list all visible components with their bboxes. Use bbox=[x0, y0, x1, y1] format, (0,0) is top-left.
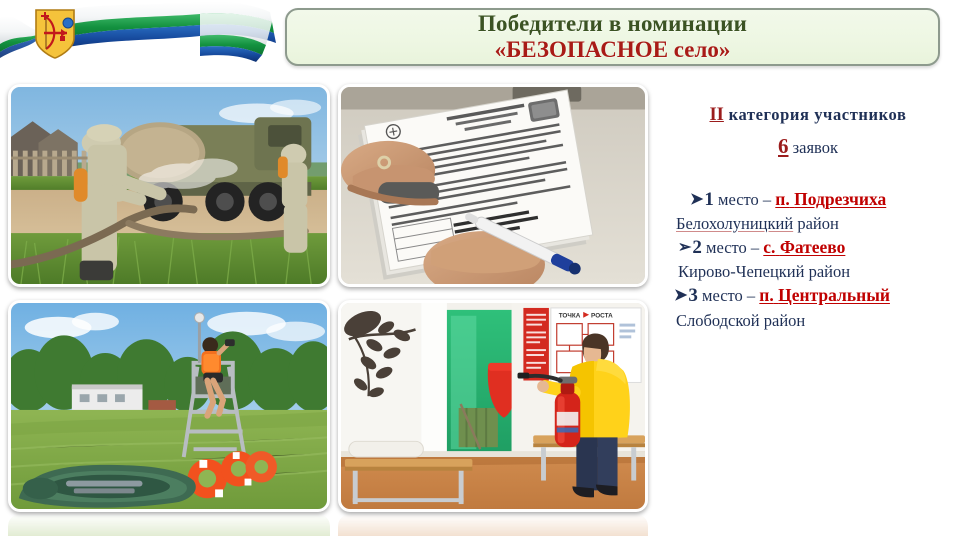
place-word-3: место bbox=[702, 286, 743, 305]
district-3: Слободской район bbox=[660, 310, 956, 331]
svg-text:ТОЧКА: ТОЧКА bbox=[559, 313, 581, 320]
photo-filling-document bbox=[338, 84, 648, 287]
settlement-name-2: Фатеево bbox=[780, 237, 846, 257]
reflection-gradient-right bbox=[338, 514, 648, 536]
fire-extinguisher-demo-illustration: ТОЧКА РОСТА bbox=[341, 303, 645, 509]
applications-word: заявок bbox=[793, 138, 838, 157]
applications-count: 6 bbox=[778, 134, 789, 158]
page-title-line-1: Победители в номинации bbox=[478, 12, 747, 36]
district-word-2: Кирово-Чепецкий район bbox=[678, 262, 850, 281]
arrow-bullet-icon-2: ➢ bbox=[678, 238, 691, 258]
winners-text-panel: II категория участников 6 заявок ➤1 мест… bbox=[660, 104, 956, 333]
arrow-bullet-icon-1: ➤ bbox=[690, 190, 703, 210]
place-number-2: 2 bbox=[692, 237, 702, 258]
settlement-prefix-1: п. bbox=[775, 189, 789, 209]
district-1: Белохолуницкий район bbox=[660, 213, 956, 234]
page-title-line-2: «БЕЗОПАСНОЕ село» bbox=[495, 37, 731, 62]
winner-row-2: ➢2 место – с. Фатеево bbox=[660, 236, 956, 260]
slide-title-banner: Победители в номинации «БЕЗОПАСНОЕ село» bbox=[285, 8, 940, 66]
district-word-3: Слободской район bbox=[676, 311, 805, 330]
svg-text:РОСТА: РОСТА bbox=[591, 313, 613, 320]
dash-1: – bbox=[763, 190, 771, 209]
settlement-name-3: Центральный bbox=[778, 285, 890, 305]
place-word-2: место bbox=[706, 238, 747, 257]
category-heading-text: категория участников bbox=[729, 105, 907, 124]
winners-list: ➤1 место – п. Подрезчиха Белохолуницкий … bbox=[660, 188, 956, 331]
photo-fire-extinguisher-demo: ТОЧКА РОСТА bbox=[338, 300, 648, 512]
place-number-1: 1 bbox=[704, 189, 714, 210]
dash-3: – bbox=[747, 286, 755, 305]
settlement-prefix-2: с. bbox=[763, 237, 775, 257]
winner-row-1: ➤1 место – п. Подрезчиха bbox=[660, 188, 956, 212]
kirov-oblast-ribbon-emblem bbox=[0, 0, 280, 76]
district-word-1: район bbox=[797, 214, 838, 233]
category-heading: II категория участников bbox=[660, 104, 956, 128]
settlement-name-1: Подрезчиха bbox=[794, 189, 886, 209]
lifeguard-scene-illustration bbox=[11, 303, 327, 509]
ribbon-graphic bbox=[0, 0, 280, 76]
photo-reflection-bottom-right bbox=[338, 514, 648, 536]
photo-lifeguard-tower-and-boat bbox=[8, 300, 330, 512]
category-roman-numeral: II bbox=[709, 105, 723, 125]
reflection-gradient-left bbox=[8, 514, 330, 536]
photo-firefighters-with-tanker bbox=[8, 84, 330, 287]
arrow-bullet-icon-3: ➤ bbox=[674, 286, 687, 306]
coat-of-arms-icon bbox=[36, 10, 74, 58]
firefighters-illustration bbox=[11, 87, 327, 284]
district-name-1: Белохолуницкий bbox=[676, 214, 793, 233]
dash-2: – bbox=[751, 238, 759, 257]
place-word-1: место bbox=[718, 190, 759, 209]
settlement-prefix-3: п. bbox=[759, 285, 773, 305]
applications-count-line: 6 заявок bbox=[660, 133, 956, 160]
document-form-illustration bbox=[341, 87, 645, 284]
photo-reflection-bottom-left bbox=[8, 514, 330, 536]
district-2: Кирово-Чепецкий район bbox=[660, 261, 956, 282]
place-number-3: 3 bbox=[688, 285, 698, 306]
winner-row-3: ➤3 место – п. Центральный bbox=[660, 284, 956, 308]
